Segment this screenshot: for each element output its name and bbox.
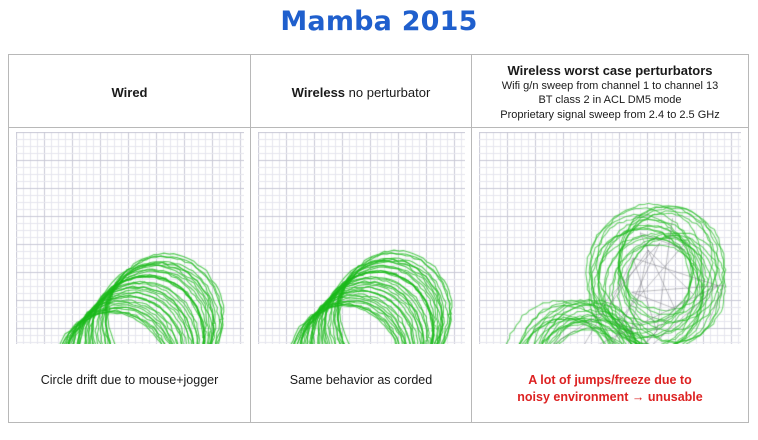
column-wireless-no-perturbator: Wireless no perturbator Same behavior as… xyxy=(251,55,472,422)
plot-wired xyxy=(9,128,250,364)
column-wired: Wired Circle drift due to mouse+jogger xyxy=(9,55,251,422)
comparison-table: Wired Circle drift due to mouse+jogger W… xyxy=(8,54,749,423)
caption-line-1: A lot of jumps/freeze due to xyxy=(528,373,691,387)
plot-worst-case xyxy=(472,128,748,364)
header-bold-text: Wireless xyxy=(292,85,345,100)
caption-cell-worst-case: A lot of jumps/freeze due to noisy envir… xyxy=(472,364,748,422)
caption-wired: Circle drift due to mouse+jogger xyxy=(41,372,219,389)
caption-line-2: noisy environment → unusable xyxy=(517,390,702,404)
caption-cell-wired: Circle drift due to mouse+jogger xyxy=(9,364,250,422)
header-sub-line-2: BT class 2 in ACL DM5 mode xyxy=(538,93,681,108)
column-header-wired: Wired xyxy=(9,55,250,128)
caption-wireless: Same behavior as corded xyxy=(290,372,432,389)
column-header-title-wired: Wired xyxy=(112,85,148,101)
header-sub-line-3: Proprietary signal sweep from 2.4 to 2.5… xyxy=(500,108,719,123)
plot-wireless xyxy=(251,128,471,364)
caption-worst-case: A lot of jumps/freeze due to noisy envir… xyxy=(517,372,702,406)
header-regular-text: no perturbator xyxy=(345,85,430,100)
caption-cell-wireless: Same behavior as corded xyxy=(251,364,471,422)
column-header-wireless: Wireless no perturbator xyxy=(251,55,471,128)
column-header-title-worst-case: Wireless worst case perturbators xyxy=(507,63,712,79)
column-header-worst-case: Wireless worst case perturbators Wifi g/… xyxy=(472,55,748,128)
header-bold-text: Wired xyxy=(112,85,148,100)
header-sub-line-1: Wifi g/n sweep from channel 1 to channel… xyxy=(502,79,718,94)
page-title: Mamba 2015 xyxy=(0,6,758,37)
plot-canvas-wireless xyxy=(258,132,465,344)
plot-canvas-worst-case xyxy=(479,132,741,344)
plot-canvas-wired xyxy=(16,132,244,344)
column-wireless-worst-case: Wireless worst case perturbators Wifi g/… xyxy=(472,55,748,422)
column-header-title-wireless: Wireless no perturbator xyxy=(292,85,431,101)
